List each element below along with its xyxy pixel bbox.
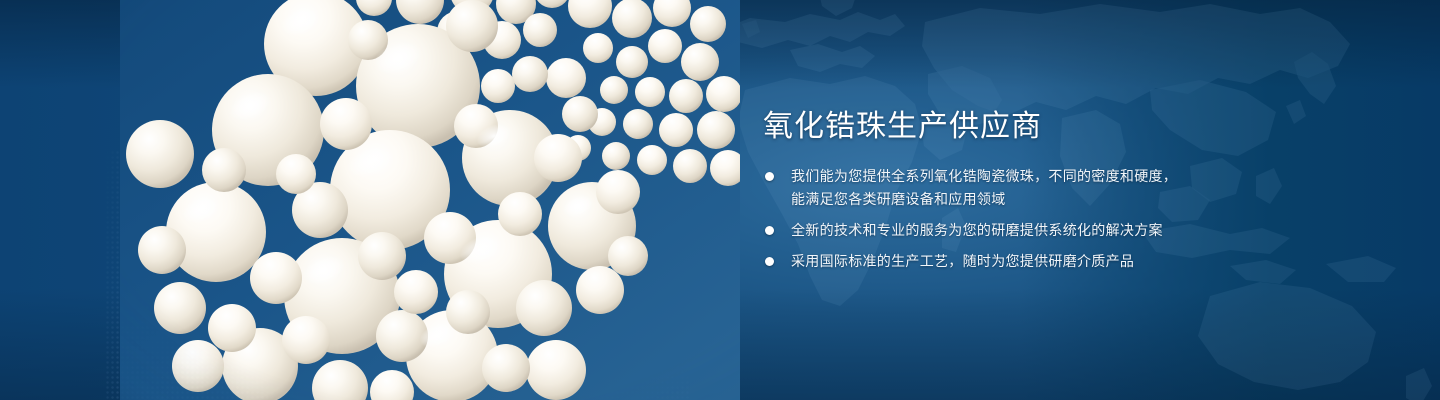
bullet-line: 我们能为您提供全系列氧化锆陶瓷微珠，不同的密度和硬度，: [791, 165, 1383, 188]
bullet-dot-icon: [765, 257, 774, 266]
list-item: 我们能为您提供全系列氧化锆陶瓷微珠，不同的密度和硬度， 能满足您各类研磨设备和应…: [763, 165, 1383, 211]
bullet-dot-icon: [765, 172, 774, 181]
page-title: 氧化锆珠生产供应商: [763, 108, 1383, 146]
zirconia-beads-product-photo: [120, 0, 740, 400]
feature-bullet-list: 我们能为您提供全系列氧化锆陶瓷微珠，不同的密度和硬度， 能满足您各类研磨设备和应…: [763, 165, 1383, 273]
banner-text-content: 氧化锆珠生产供应商 我们能为您提供全系列氧化锆陶瓷微珠，不同的密度和硬度， 能满…: [763, 108, 1383, 273]
bullet-line: 采用国际标准的生产工艺，随时为您提供研磨介质产品: [791, 250, 1383, 273]
bullet-line: 能满足您各类研磨设备和应用领域: [791, 188, 1383, 211]
bullet-line: 全新的技术和专业的服务为您的研磨提供系统化的解决方案: [791, 219, 1383, 242]
bullet-dot-icon: [765, 226, 774, 235]
product-hero-banner: 氧化锆珠生产供应商 我们能为您提供全系列氧化锆陶瓷微珠，不同的密度和硬度， 能满…: [0, 0, 1440, 400]
list-item: 全新的技术和专业的服务为您的研磨提供系统化的解决方案: [763, 219, 1383, 242]
list-item: 采用国际标准的生产工艺，随时为您提供研磨介质产品: [763, 250, 1383, 273]
